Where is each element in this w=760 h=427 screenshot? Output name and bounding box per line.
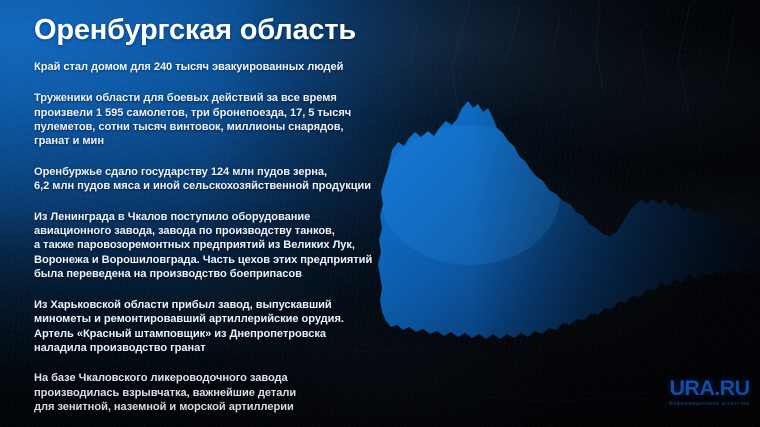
fact-production: Труженики области для боевых действий за…: [34, 91, 394, 149]
fact-line: для зенитной, наземной и морской артилле…: [34, 400, 394, 414]
fact-evacuated-plants: Из Ленинграда в Чкалов поступило оборудо…: [34, 210, 394, 282]
fact-line: гранат и мин: [34, 134, 394, 148]
fact-line: произвели 1 595 самолетов, три бронепоез…: [34, 106, 394, 120]
fact-kharkov-plant: Из Харьковской области прибыл завод, вып…: [34, 298, 394, 356]
facts-list: Труженики области для боевых действий за…: [34, 91, 394, 427]
fact-line: Из Ленинграда в Чкалов поступило оборудо…: [34, 210, 394, 224]
page-title: Оренбургская область: [34, 14, 394, 46]
fact-line: Оренбуржье сдало государству 124 млн пуд…: [34, 165, 394, 179]
fact-line: авиационного завода, завода по производс…: [34, 224, 394, 238]
logo-wordmark: URA.RU: [669, 378, 750, 400]
fact-line: пулеметов, сотни тысяч винтовок, миллион…: [34, 120, 394, 134]
fact-line: Из Харьковской области прибыл завод, вып…: [34, 298, 394, 312]
fact-line: а также паровозоремонтных предприятий из…: [34, 238, 394, 252]
fact-line: минометы и ремонтировавший артиллерийски…: [34, 312, 394, 326]
fact-line: производилась взрывчатка, важнейшие дета…: [34, 386, 394, 400]
map-highlight: [380, 125, 560, 265]
fact-line: Воронежа и Ворошиловграда. Часть цехов э…: [34, 253, 394, 267]
fact-line: На базе Чкаловского ликероводочного заво…: [34, 371, 394, 385]
logo-tagline: Информационное агентство: [669, 402, 750, 407]
subtitle: Край стал домом для 240 тысяч эвакуирова…: [34, 60, 394, 75]
infographic-card: Оренбургская область Край стал домом для…: [0, 0, 760, 427]
fact-line: Труженики области для боевых действий за…: [34, 91, 394, 105]
fact-line: была переведена на производство боеприпа…: [34, 267, 394, 281]
ura-ru-logo[interactable]: URA.RU Информационное агентство: [669, 378, 750, 408]
fact-distillery: На базе Чкаловского ликероводочного заво…: [34, 371, 394, 414]
fact-line: Артель «Красный штамповщик» из Днепропет…: [34, 327, 394, 341]
fact-line: наладила производство гранат: [34, 341, 394, 355]
fact-agriculture: Оренбуржье сдало государству 124 млн пуд…: [34, 165, 394, 194]
content-column: Оренбургская область Край стал домом для…: [34, 14, 394, 427]
fact-line: 6,2 млн пудов мяса и иной сельскохозяйст…: [34, 179, 394, 193]
